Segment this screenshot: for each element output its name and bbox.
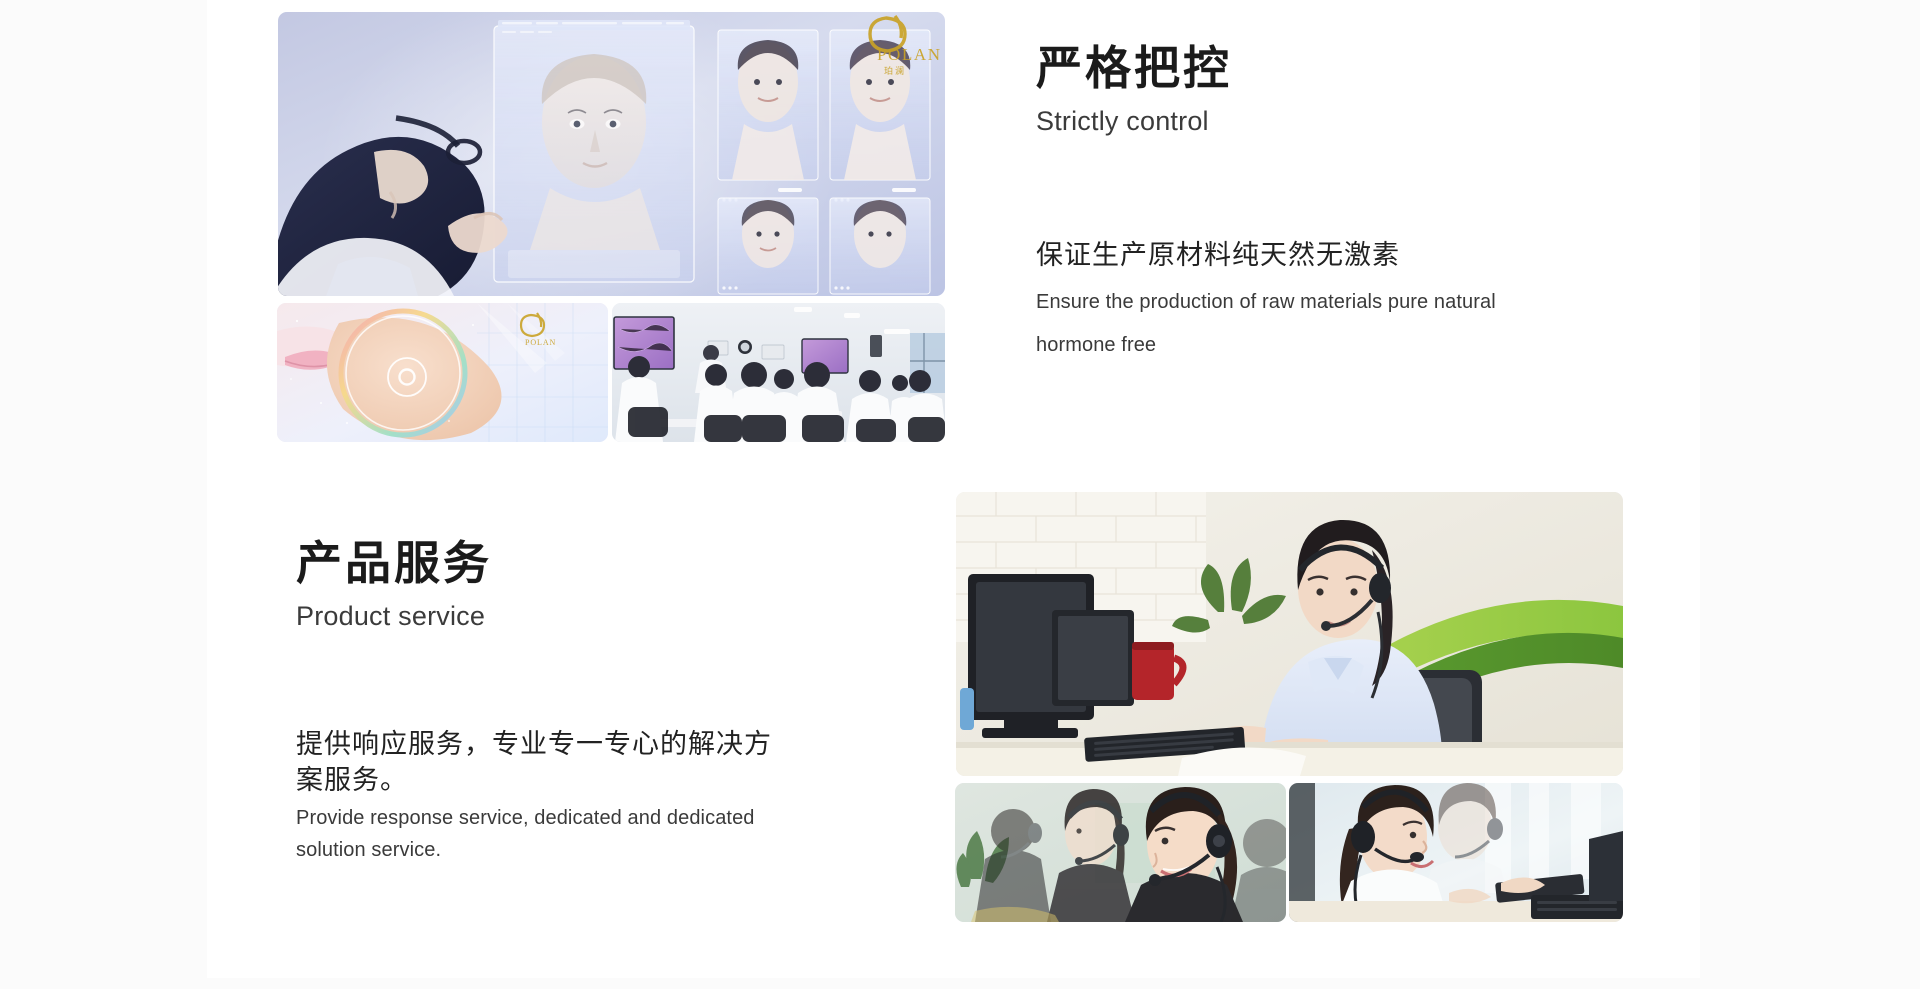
call-center-team-smiling-art [955, 783, 1286, 922]
body-en-product-service-line1: Provide response service, dedicated and … [296, 805, 876, 831]
svg-text:POLAN: POLAN [525, 338, 556, 347]
section-strictly-control-body-block: 保证生产原材料纯天然无激素 Ensure the production of r… [1036, 237, 1636, 358]
image-call-center-agents-typing [1289, 783, 1623, 922]
page-root: POLAN 珀澜 [0, 0, 1920, 989]
image-facial-analysis-hologram: POLAN 珀澜 [278, 12, 945, 296]
body-en-strictly-control-line2: hormone free [1036, 332, 1636, 358]
body-cn-strictly-control: 保证生产原材料纯天然无激素 [1036, 237, 1636, 273]
image-customer-service-agent-desk [956, 492, 1623, 776]
body-cn-product-service-line2: 案服务。 [296, 762, 876, 798]
heading-cn-strictly-control: 严格把控 [1036, 42, 1656, 95]
customer-service-agent-desk-art [956, 492, 1623, 776]
svg-text:POLAN: POLAN [877, 45, 942, 64]
image-skin-closeup-scan: POLAN [277, 303, 608, 442]
facial-analysis-hologram-art: POLAN 珀澜 [278, 12, 945, 296]
image-lab-training-classroom [612, 303, 945, 442]
body-en-product-service-line2: solution service. [296, 837, 876, 863]
lab-training-classroom-art [612, 303, 945, 442]
page-bottom-band [207, 978, 1700, 989]
call-center-agents-typing-art [1289, 783, 1623, 922]
skin-closeup-scan-art: POLAN [277, 303, 608, 442]
section-product-service-body-block: 提供响应服务，专业专一专心的解决方 案服务。 Provide response … [296, 726, 876, 864]
body-en-strictly-control-line1: Ensure the production of raw materials p… [1036, 289, 1636, 315]
heading-cn-product-service: 产品服务 [296, 537, 896, 590]
body-cn-product-service-line1: 提供响应服务，专业专一专心的解决方 [296, 726, 876, 762]
svg-text:珀澜: 珀澜 [884, 65, 906, 77]
heading-en-strictly-control: Strictly control [1036, 105, 1656, 137]
section-product-service-heading-block: 产品服务 Product service [296, 537, 896, 632]
section-strictly-control-heading-block: 严格把控 Strictly control [1036, 42, 1656, 137]
image-call-center-team-smiling [955, 783, 1286, 922]
heading-en-product-service: Product service [296, 600, 896, 632]
